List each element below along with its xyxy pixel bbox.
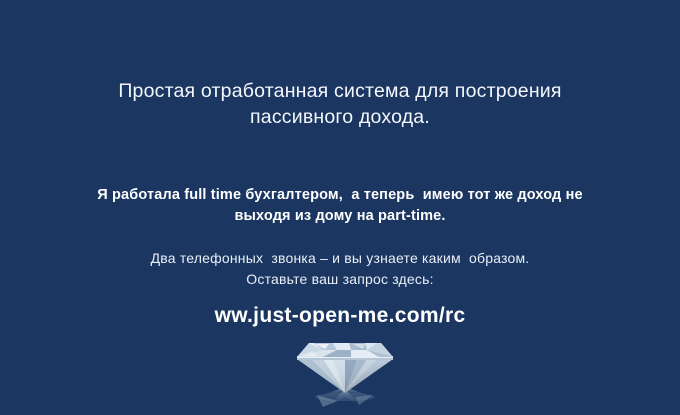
- website-url-link[interactable]: ww.just-open-me.com/rc: [0, 303, 680, 329]
- testimonial-line-2: выходя из дому на part-time.: [0, 206, 680, 227]
- headline: Простая отработанная система для построе…: [0, 78, 680, 130]
- headline-line-2: пассивного дохода.: [0, 104, 680, 130]
- cta-line-1: Два телефонных звонка – и вы узнаете как…: [0, 248, 680, 269]
- promo-banner: Простая отработанная система для построе…: [0, 0, 680, 415]
- testimonial-text: Я работала full time бухгалтером, а тепе…: [0, 185, 680, 227]
- call-to-action-text: Два телефонных звонка – и вы узнаете как…: [0, 248, 680, 290]
- diamond-icon: [293, 337, 397, 415]
- testimonial-line-1: Я работала full time бухгалтером, а тепе…: [0, 185, 680, 206]
- cta-line-2: Оставьте ваш запрос здесь:: [0, 269, 680, 290]
- headline-line-1: Простая отработанная система для построе…: [0, 78, 680, 104]
